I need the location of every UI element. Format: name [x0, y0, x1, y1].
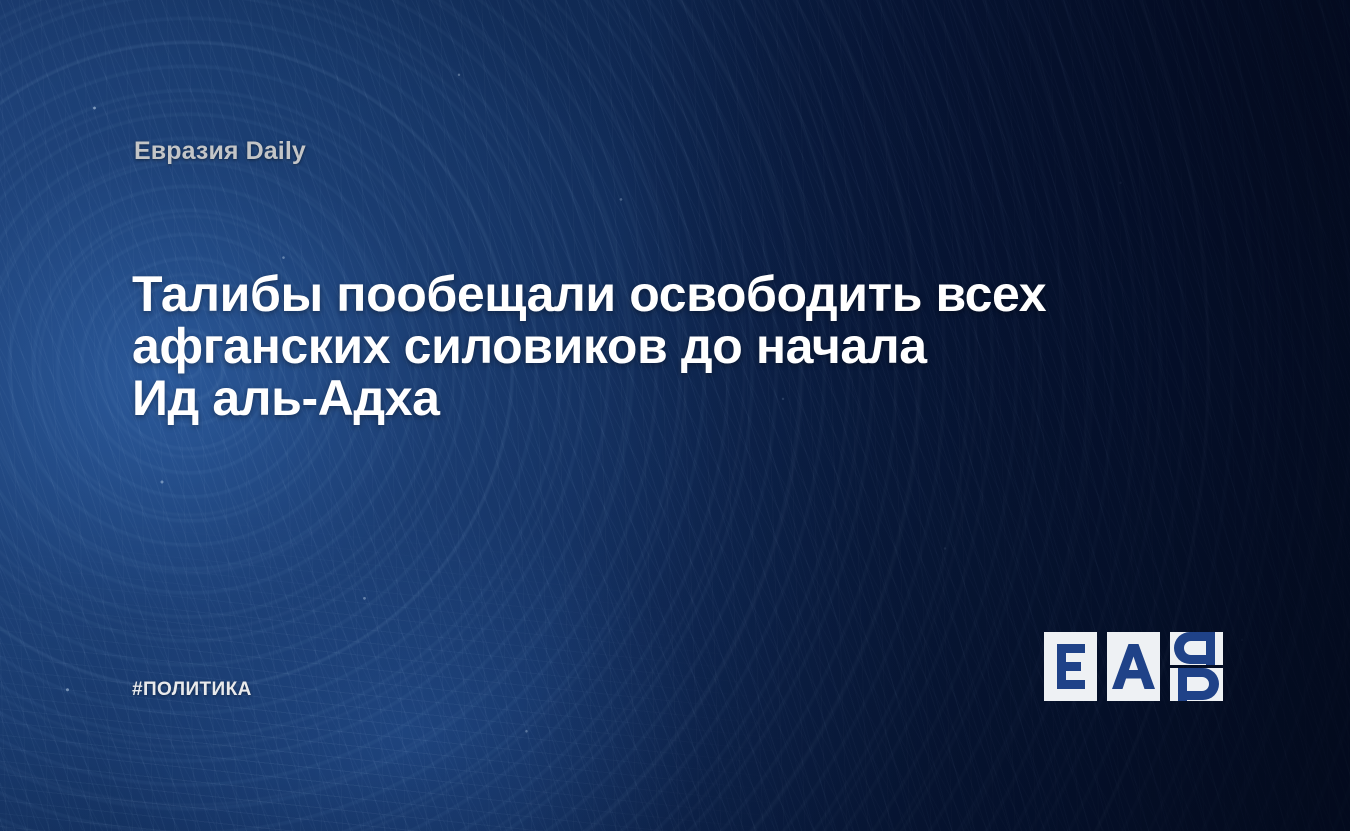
logo-tile-d-top [1170, 632, 1223, 665]
logo-tile-a [1107, 632, 1160, 701]
headline-line-3: Ид аль-Адха [132, 372, 1152, 424]
logo-tile-e [1044, 632, 1097, 701]
logo-tile-d [1170, 632, 1223, 701]
headline-line-1: Талибы пообещали освободить всех [132, 268, 1152, 320]
card-content: Евразия Daily Талибы пообещали освободит… [0, 0, 1350, 831]
category-hashtag: #ПОЛИТИКА [132, 679, 252, 701]
eadaily-logo [1044, 632, 1223, 701]
news-card: Евразия Daily Талибы пообещали освободит… [0, 0, 1350, 831]
logo-tile-d-bottom [1170, 668, 1223, 701]
brand-name: Евразия Daily [134, 137, 306, 166]
headline: Талибы пообещали освободить всех афганск… [132, 268, 1152, 424]
headline-line-2: афганских силовиков до начала [132, 320, 1152, 372]
